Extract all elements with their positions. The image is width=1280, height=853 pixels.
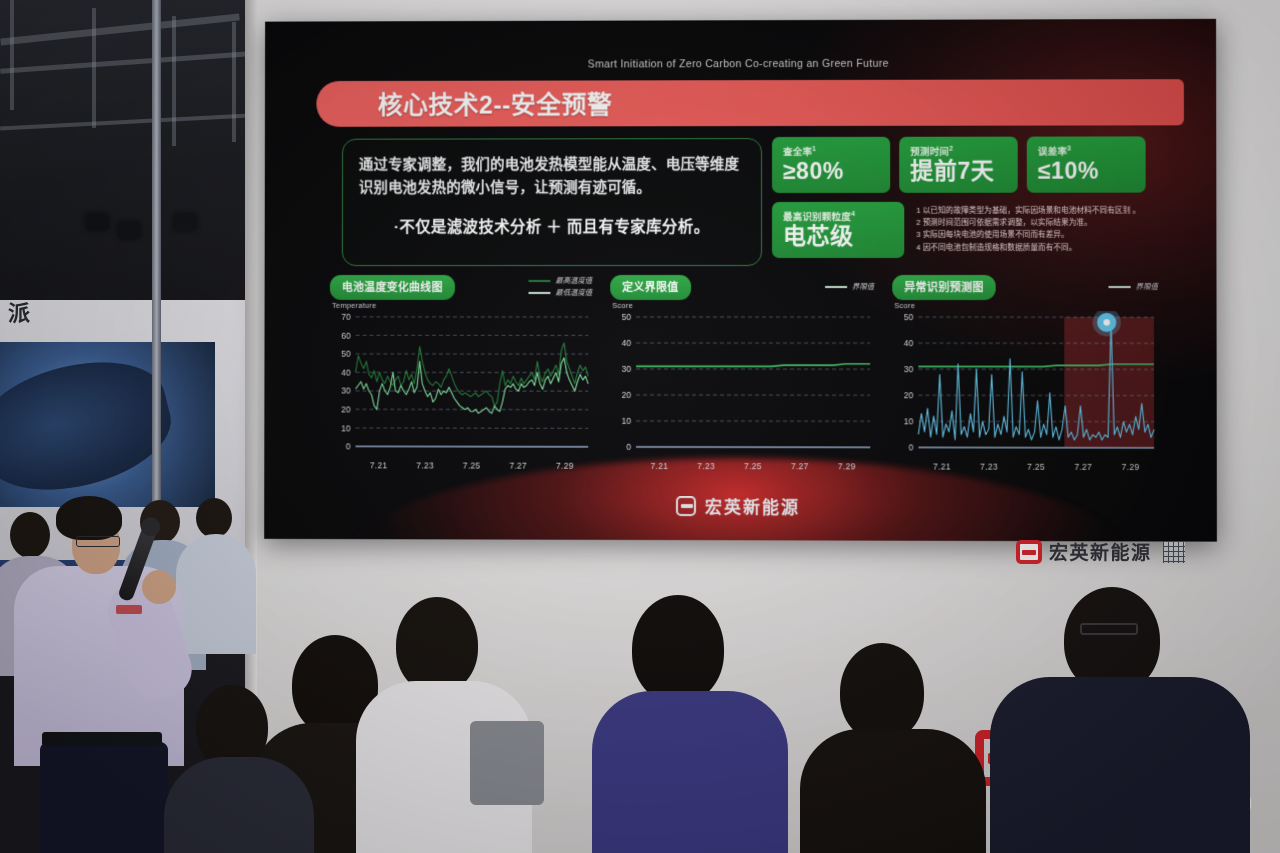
- legend-label: 最低温度值: [555, 287, 592, 298]
- person-body: [800, 729, 986, 853]
- svg-text:40: 40: [904, 338, 914, 348]
- chart-threshold: 定义界限值 界限值 Score 01020304050 7.21 7.23 7: [610, 276, 876, 476]
- svg-text:60: 60: [341, 331, 351, 341]
- footnote-list: 1 以已知的故障类型为基础，实际因场景和电池材料不同有区别 。 2 预测时间范围…: [916, 201, 1140, 253]
- svg-text:30: 30: [622, 364, 632, 374]
- x-tick: 7.29: [1107, 462, 1154, 472]
- chart-svg: 01020304050: [892, 311, 1160, 462]
- presenter-hand: [142, 570, 176, 604]
- chart-plot-area: 01020304050: [892, 311, 1160, 462]
- ceiling-truss: [232, 22, 236, 142]
- presenter-trousers: [40, 742, 168, 853]
- legend-label: 界限值: [852, 281, 874, 292]
- legend-item: 最低温度值: [529, 287, 593, 298]
- svg-text:0: 0: [909, 443, 914, 453]
- legend-label: 最高温度值: [555, 275, 592, 286]
- chart-title: 电池温度变化曲线图: [330, 275, 455, 300]
- legend-swatch: [825, 286, 847, 288]
- person-body: [990, 677, 1250, 853]
- footnote-item: 3 实际因每块电池的使用场景不同而有差异。: [916, 229, 1140, 241]
- chart-legend: 界限值: [1108, 281, 1160, 293]
- slide-title-bar: 核心技术2--安全预警: [316, 79, 1184, 127]
- kpi-card-error-rate: 误差率3 ≤10%: [1027, 136, 1146, 192]
- presentation-slide: Smart Initiation of Zero Carbon Co-creat…: [264, 19, 1217, 542]
- slide-title: 核心技术2--安全预警: [378, 85, 613, 121]
- kpi-card-group: 查全率1 ≥80% 预测时间2 提前7天 误差率3 ≤10% 最高识别颗粒度4 …: [772, 136, 1176, 257]
- kpi-label: 最高识别颗粒度4: [783, 209, 894, 223]
- svg-text:10: 10: [341, 423, 351, 433]
- chart-header: 定义界限值 界限值: [610, 276, 876, 298]
- svg-text:20: 20: [622, 390, 632, 400]
- footnote-item: 4 因不同电池包制造规格和数据质量而有不同。: [916, 242, 1140, 254]
- kpi-row-bottom: 最高识别颗粒度4 电芯级 1 以已知的故障类型为基础，实际因场景和电池材料不同有…: [772, 201, 1176, 257]
- chart-y-axis-label: Score: [612, 301, 876, 310]
- presenter-hair: [56, 496, 122, 540]
- svg-text:10: 10: [904, 416, 914, 426]
- x-tick: 7.23: [965, 462, 1012, 472]
- svg-text:20: 20: [341, 405, 351, 415]
- svg-text:30: 30: [904, 364, 914, 374]
- glasses-icon: [1080, 623, 1138, 635]
- chart-svg: 010203040506070: [330, 311, 595, 461]
- chart-svg: 01020304050: [610, 311, 876, 461]
- x-tick: 7.29: [823, 461, 870, 471]
- x-tick: 7.23: [402, 460, 449, 470]
- x-tick: 7.27: [495, 461, 542, 471]
- ceiling: [0, 0, 270, 300]
- chart-title: 定义界限值: [610, 275, 690, 300]
- chart-x-tick-labels: 7.21 7.23 7.25 7.27 7.29: [636, 461, 870, 472]
- slide-text-panel: 通过专家调整，我们的电池发热模型能从温度、电压等维度识别电池发热的微小信号，让预…: [342, 138, 762, 266]
- kpi-value: 电芯级: [783, 224, 894, 249]
- slide-body-lead: 通过专家调整，我们的电池发热模型能从温度、电压等维度识别电池发热的微小信号，让预…: [359, 154, 745, 201]
- person-head: [396, 597, 478, 693]
- x-tick: 7.25: [1013, 462, 1060, 472]
- legend-label: 界限值: [1136, 281, 1158, 292]
- x-tick: 7.23: [683, 461, 730, 471]
- chart-title: 异常识别预测图: [892, 274, 996, 299]
- person-head: [840, 643, 924, 741]
- chart-legend: 界限值: [825, 281, 876, 293]
- wall-brand-logo: 宏英新能源: [1016, 538, 1185, 565]
- kpi-value: ≤10%: [1038, 159, 1136, 184]
- ceiling-truss: [10, 0, 14, 110]
- glasses-icon: [76, 536, 120, 547]
- person-body: [592, 691, 788, 853]
- legend-item: 界限值: [825, 281, 874, 292]
- person-head: [196, 498, 232, 538]
- x-tick: 7.27: [1060, 462, 1107, 472]
- chart-x-tick-labels: 7.21 7.23 7.25 7.27 7.29: [918, 461, 1154, 472]
- svg-text:50: 50: [622, 312, 632, 322]
- legend-swatch: [1108, 286, 1130, 288]
- slide-subtitle-english: Smart Initiation of Zero Carbon Co-creat…: [265, 57, 1216, 71]
- x-tick: 7.21: [355, 460, 401, 470]
- chart-row: 电池温度变化曲线图 最高温度值 最低温度值 Temperature: [330, 276, 1161, 477]
- svg-text:40: 40: [341, 368, 351, 378]
- person-head: [10, 512, 50, 558]
- kpi-label: 误差率3: [1038, 143, 1136, 157]
- brand-mark-icon: [676, 496, 696, 516]
- x-tick: 7.21: [636, 461, 683, 471]
- spotlight: [86, 214, 108, 230]
- kpi-label: 预测时间2: [910, 144, 1007, 158]
- legend-swatch: [529, 280, 551, 282]
- chart-y-axis-label: Score: [894, 301, 1160, 310]
- svg-text:50: 50: [341, 349, 351, 359]
- wall-brand-name: 宏英新能源: [1049, 538, 1152, 565]
- left-panel-caption: 派: [8, 296, 128, 340]
- chart-plot-area: 01020304050: [610, 311, 876, 461]
- qr-code-icon: [1163, 541, 1185, 563]
- spotlight: [118, 222, 140, 238]
- chart-header: 电池温度变化曲线图 最高温度值 最低温度值: [330, 276, 594, 298]
- svg-text:0: 0: [626, 442, 631, 452]
- x-tick: 7.27: [776, 461, 823, 471]
- svg-text:40: 40: [622, 338, 632, 348]
- x-tick: 7.25: [730, 461, 777, 471]
- presenter-belt: [42, 732, 162, 746]
- structure-pole: [152, 0, 161, 520]
- kpi-card-recall: 查全率1 ≥80%: [772, 137, 890, 193]
- svg-text:70: 70: [341, 312, 351, 322]
- photo-scene: ENP 派 Smart Initiation of Zero Carbon Co…: [0, 0, 1280, 853]
- shirt-logo: [116, 605, 142, 614]
- svg-text:10: 10: [622, 416, 632, 426]
- kpi-value: ≥80%: [783, 159, 880, 184]
- chart-plot-area: 010203040506070: [330, 311, 595, 461]
- kpi-card-granularity: 最高识别颗粒度4 电芯级: [772, 202, 904, 258]
- x-tick: 7.21: [918, 461, 965, 471]
- handbag: [470, 721, 544, 805]
- svg-text:0: 0: [346, 442, 351, 452]
- spotlight: [174, 214, 196, 230]
- ceiling-truss: [92, 8, 96, 128]
- person-body: [164, 757, 314, 853]
- chart-anomaly-prediction: 异常识别预测图 界限值 Score 01020304050 7.21 7.23: [892, 276, 1160, 477]
- chart-legend: 最高温度值 最低温度值: [529, 275, 595, 299]
- footnote-item: 2 预测时间范围可依据需求调整，以实际结果为准。: [916, 217, 1140, 229]
- legend-item: 界限值: [1108, 281, 1158, 292]
- ceiling-truss: [172, 16, 176, 146]
- kpi-card-lead-time: 预测时间2 提前7天: [899, 137, 1018, 193]
- brand-name: 宏英新能源: [705, 493, 800, 518]
- kpi-label: 查全率1: [783, 144, 880, 158]
- chart-temperature: 电池温度变化曲线图 最高温度值 最低温度值 Temperature: [330, 276, 595, 476]
- x-tick: 7.25: [448, 461, 495, 471]
- footnote-item: 1 以已知的故障类型为基础，实际因场景和电池材料不同有区别 。: [916, 205, 1140, 218]
- svg-text:50: 50: [904, 312, 914, 322]
- kpi-value: 提前7天: [910, 159, 1007, 184]
- svg-text:30: 30: [341, 386, 351, 396]
- person-head: [632, 595, 724, 703]
- brand-mark-icon: [1016, 540, 1042, 564]
- chart-x-tick-labels: 7.21 7.23 7.25 7.27 7.29: [355, 460, 588, 470]
- chart-header: 异常识别预测图 界限值: [892, 276, 1160, 298]
- legend-item: 最高温度值: [529, 275, 593, 286]
- chart-y-axis-label: Temperature: [332, 301, 594, 310]
- left-panel-image: [0, 342, 215, 507]
- person-body: [176, 534, 256, 654]
- kpi-row-top: 查全率1 ≥80% 预测时间2 提前7天 误差率3 ≤10%: [772, 136, 1176, 192]
- x-tick: 7.29: [542, 461, 589, 471]
- slide-footer-logo: 宏英新能源: [264, 492, 1217, 519]
- svg-text:20: 20: [904, 390, 914, 400]
- slide-body-bullet: ·不仅是滤波技术分析 ＋ 而且有专家库分析。: [359, 215, 745, 237]
- legend-swatch: [529, 291, 551, 293]
